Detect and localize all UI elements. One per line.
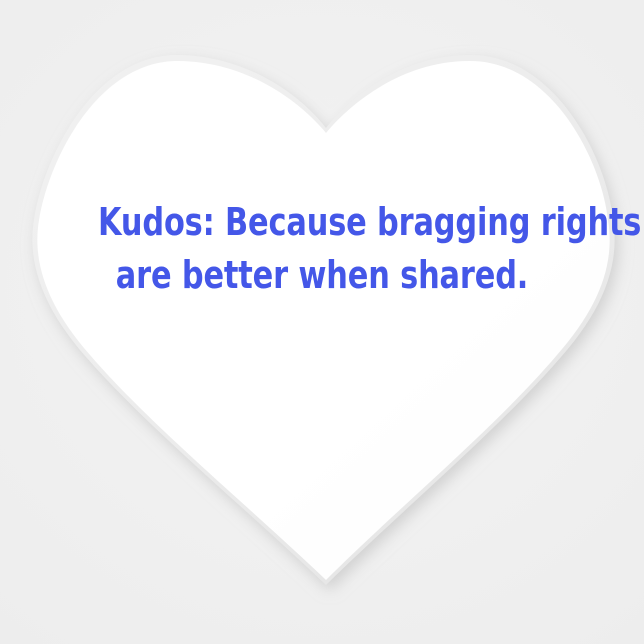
sticker-scene: Kudos: Because bragging rights are bette… <box>0 0 644 644</box>
heart-sticker <box>0 0 644 644</box>
heart-face <box>37 61 609 580</box>
heart-shape-icon <box>0 0 644 644</box>
